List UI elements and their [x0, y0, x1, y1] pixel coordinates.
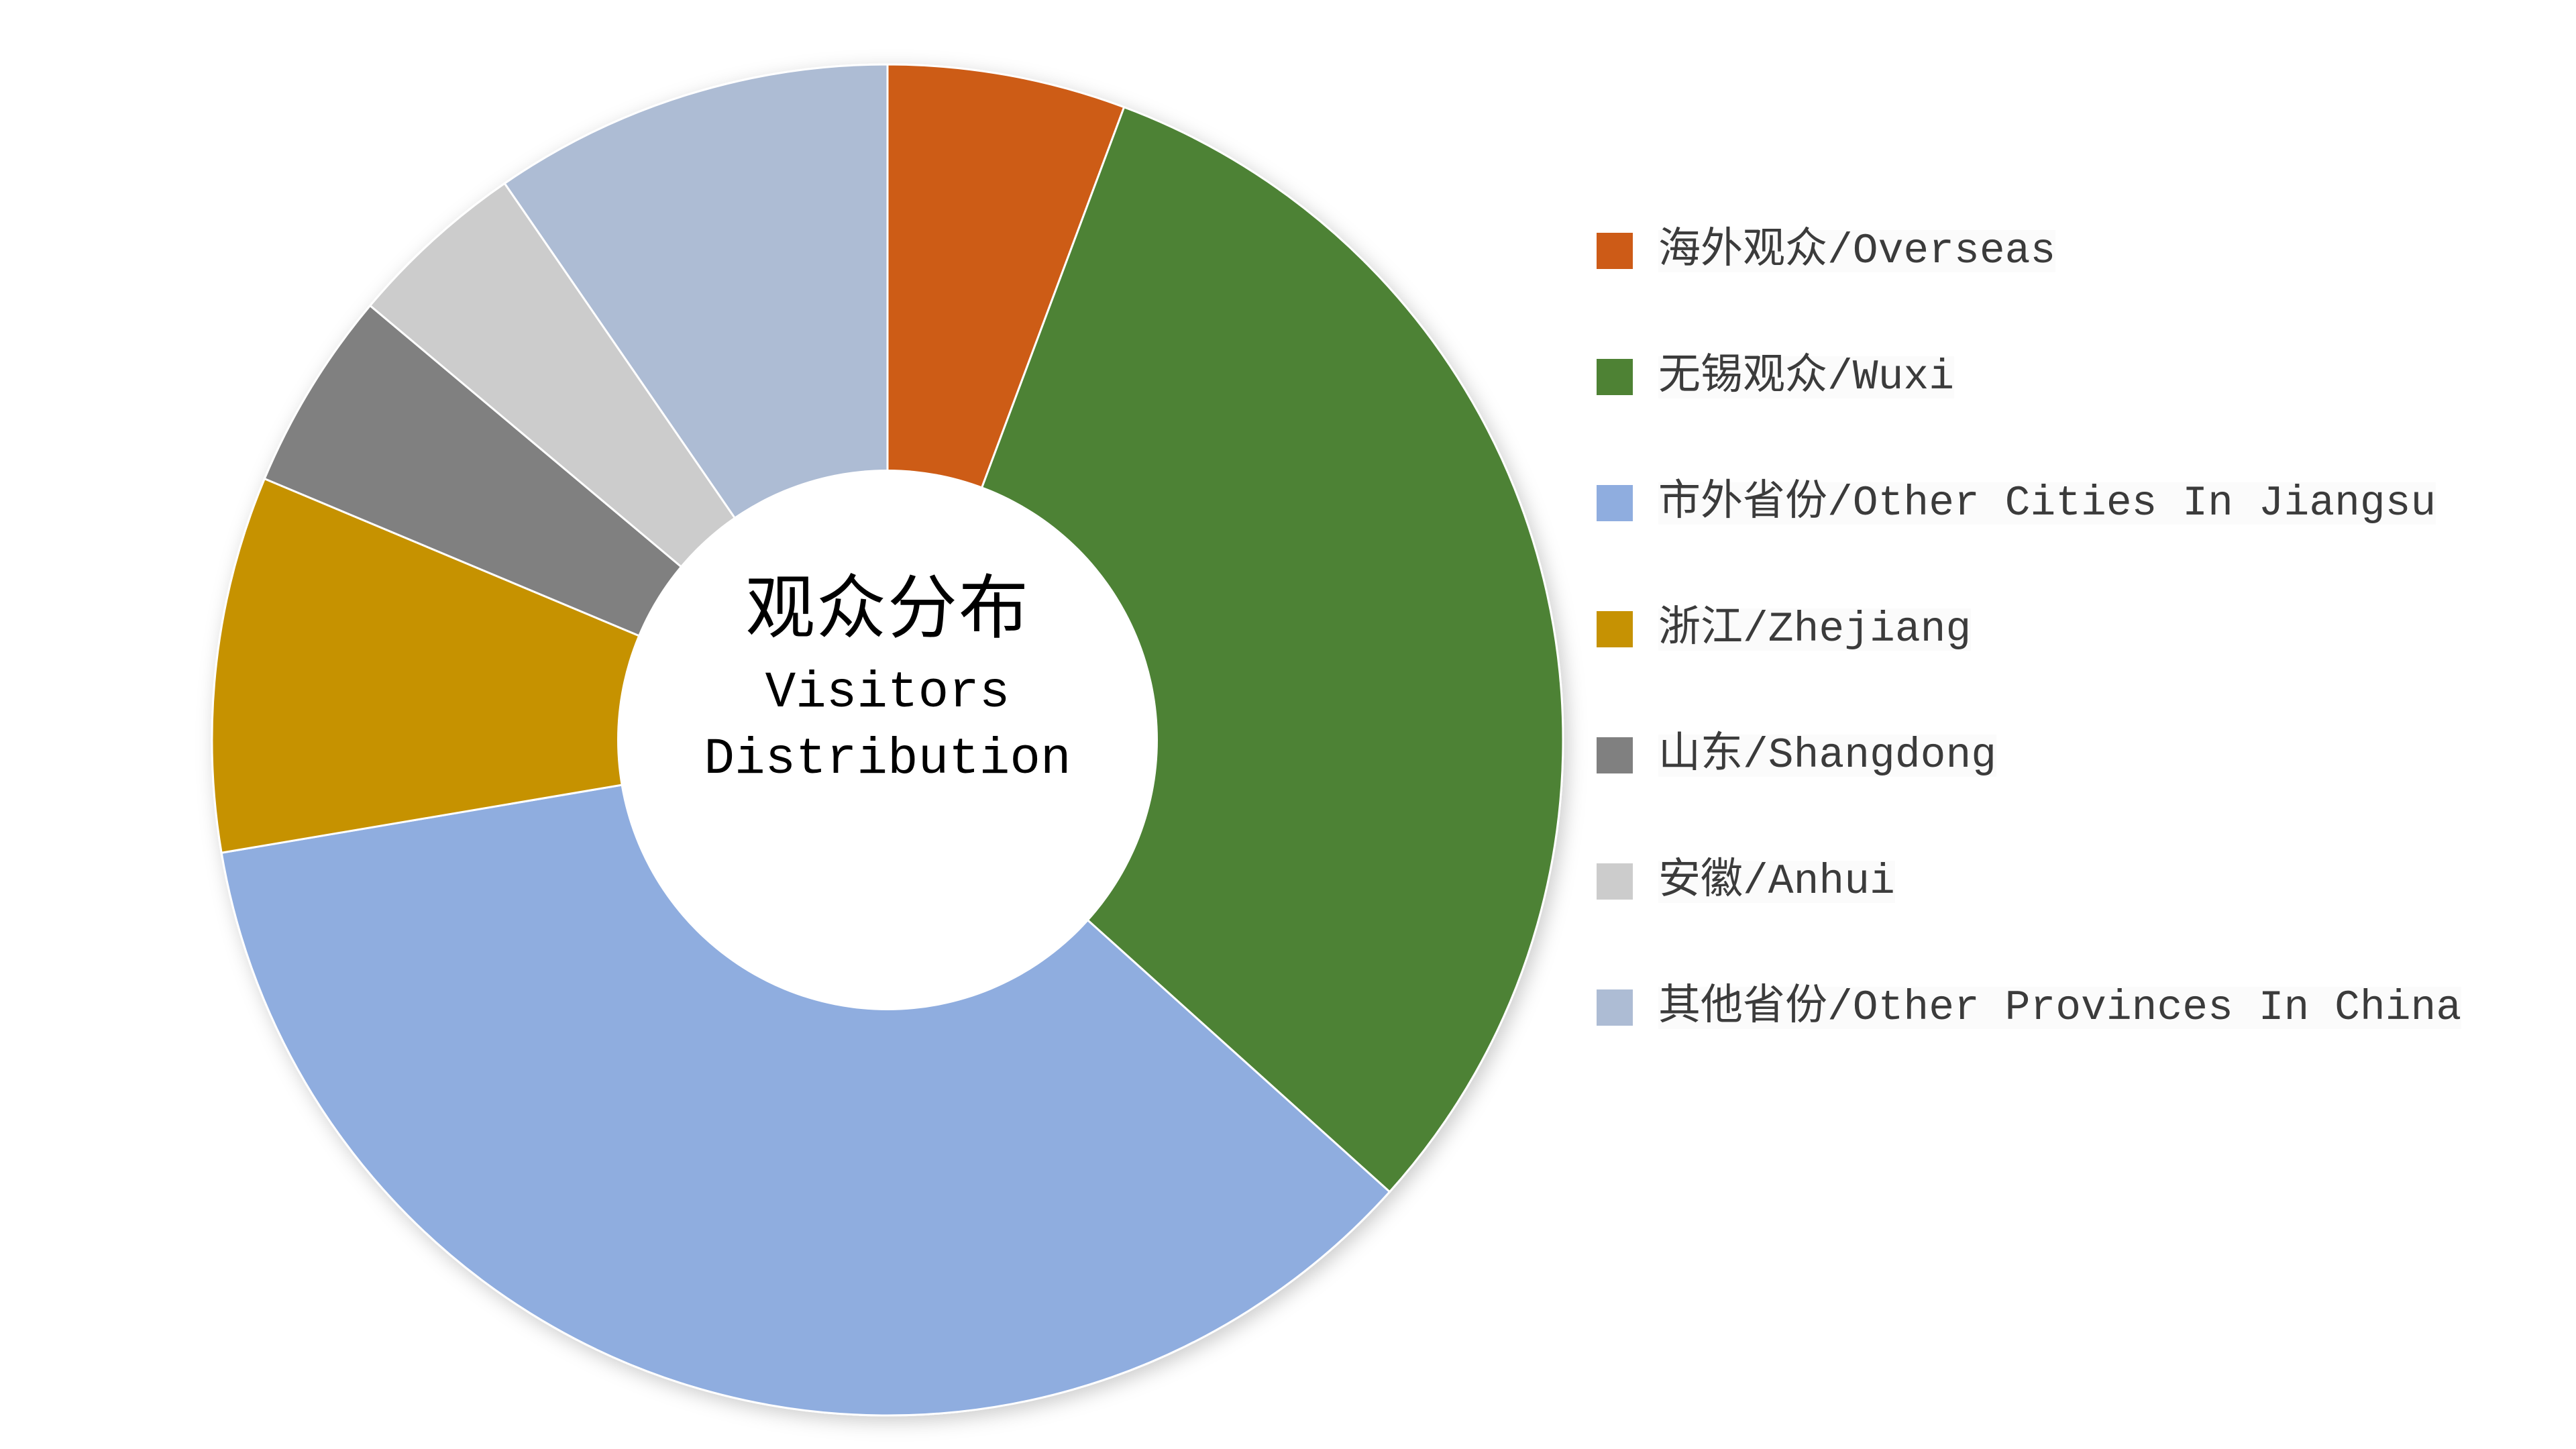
donut-chart-svg	[0, 0, 1610, 1449]
legend-color-swatch-icon	[1597, 611, 1633, 647]
donut-chart-area: 观众分布 Visitors Distribution	[0, 0, 1610, 1449]
legend-color-swatch-icon	[1597, 485, 1633, 521]
legend-item-label: 无锡观众/Wuxi	[1658, 356, 1954, 398]
donut-center-hole	[617, 470, 1158, 1010]
legend-item-label: 海外观众/Overseas	[1658, 230, 2055, 272]
legend-item-label: 浙江/Zhejiang	[1658, 608, 1971, 651]
legend-item[interactable]: 安徽/Anhui	[1597, 852, 2576, 911]
legend-color-swatch-icon	[1597, 737, 1633, 773]
legend-item-label: 安徽/Anhui	[1658, 861, 1895, 903]
legend-item[interactable]: 市外省份/Other Cities In Jiangsu	[1597, 474, 2576, 533]
legend-item-label: 山东/Shangdong	[1658, 735, 1996, 777]
legend-item[interactable]: 山东/Shangdong	[1597, 726, 2576, 785]
legend-item[interactable]: 其他省份/Other Provinces In China	[1597, 978, 2576, 1037]
legend-color-swatch-icon	[1597, 989, 1633, 1026]
legend-item[interactable]: 海外观众/Overseas	[1597, 221, 2576, 280]
chart-legend: 海外观众/Overseas无锡观众/Wuxi市外省份/Other Cities …	[1597, 221, 2576, 1104]
legend-item[interactable]: 浙江/Zhejiang	[1597, 600, 2576, 659]
legend-item-label: 其他省份/Other Provinces In China	[1658, 987, 2461, 1029]
legend-item-label: 市外省份/Other Cities In Jiangsu	[1658, 482, 2436, 525]
visitors-distribution-chart-page: 观众分布 Visitors Distribution 海外观众/Overseas…	[0, 0, 2576, 1449]
legend-color-swatch-icon	[1597, 863, 1633, 900]
legend-item[interactable]: 无锡观众/Wuxi	[1597, 347, 2576, 407]
legend-color-swatch-icon	[1597, 233, 1633, 269]
legend-color-swatch-icon	[1597, 359, 1633, 395]
